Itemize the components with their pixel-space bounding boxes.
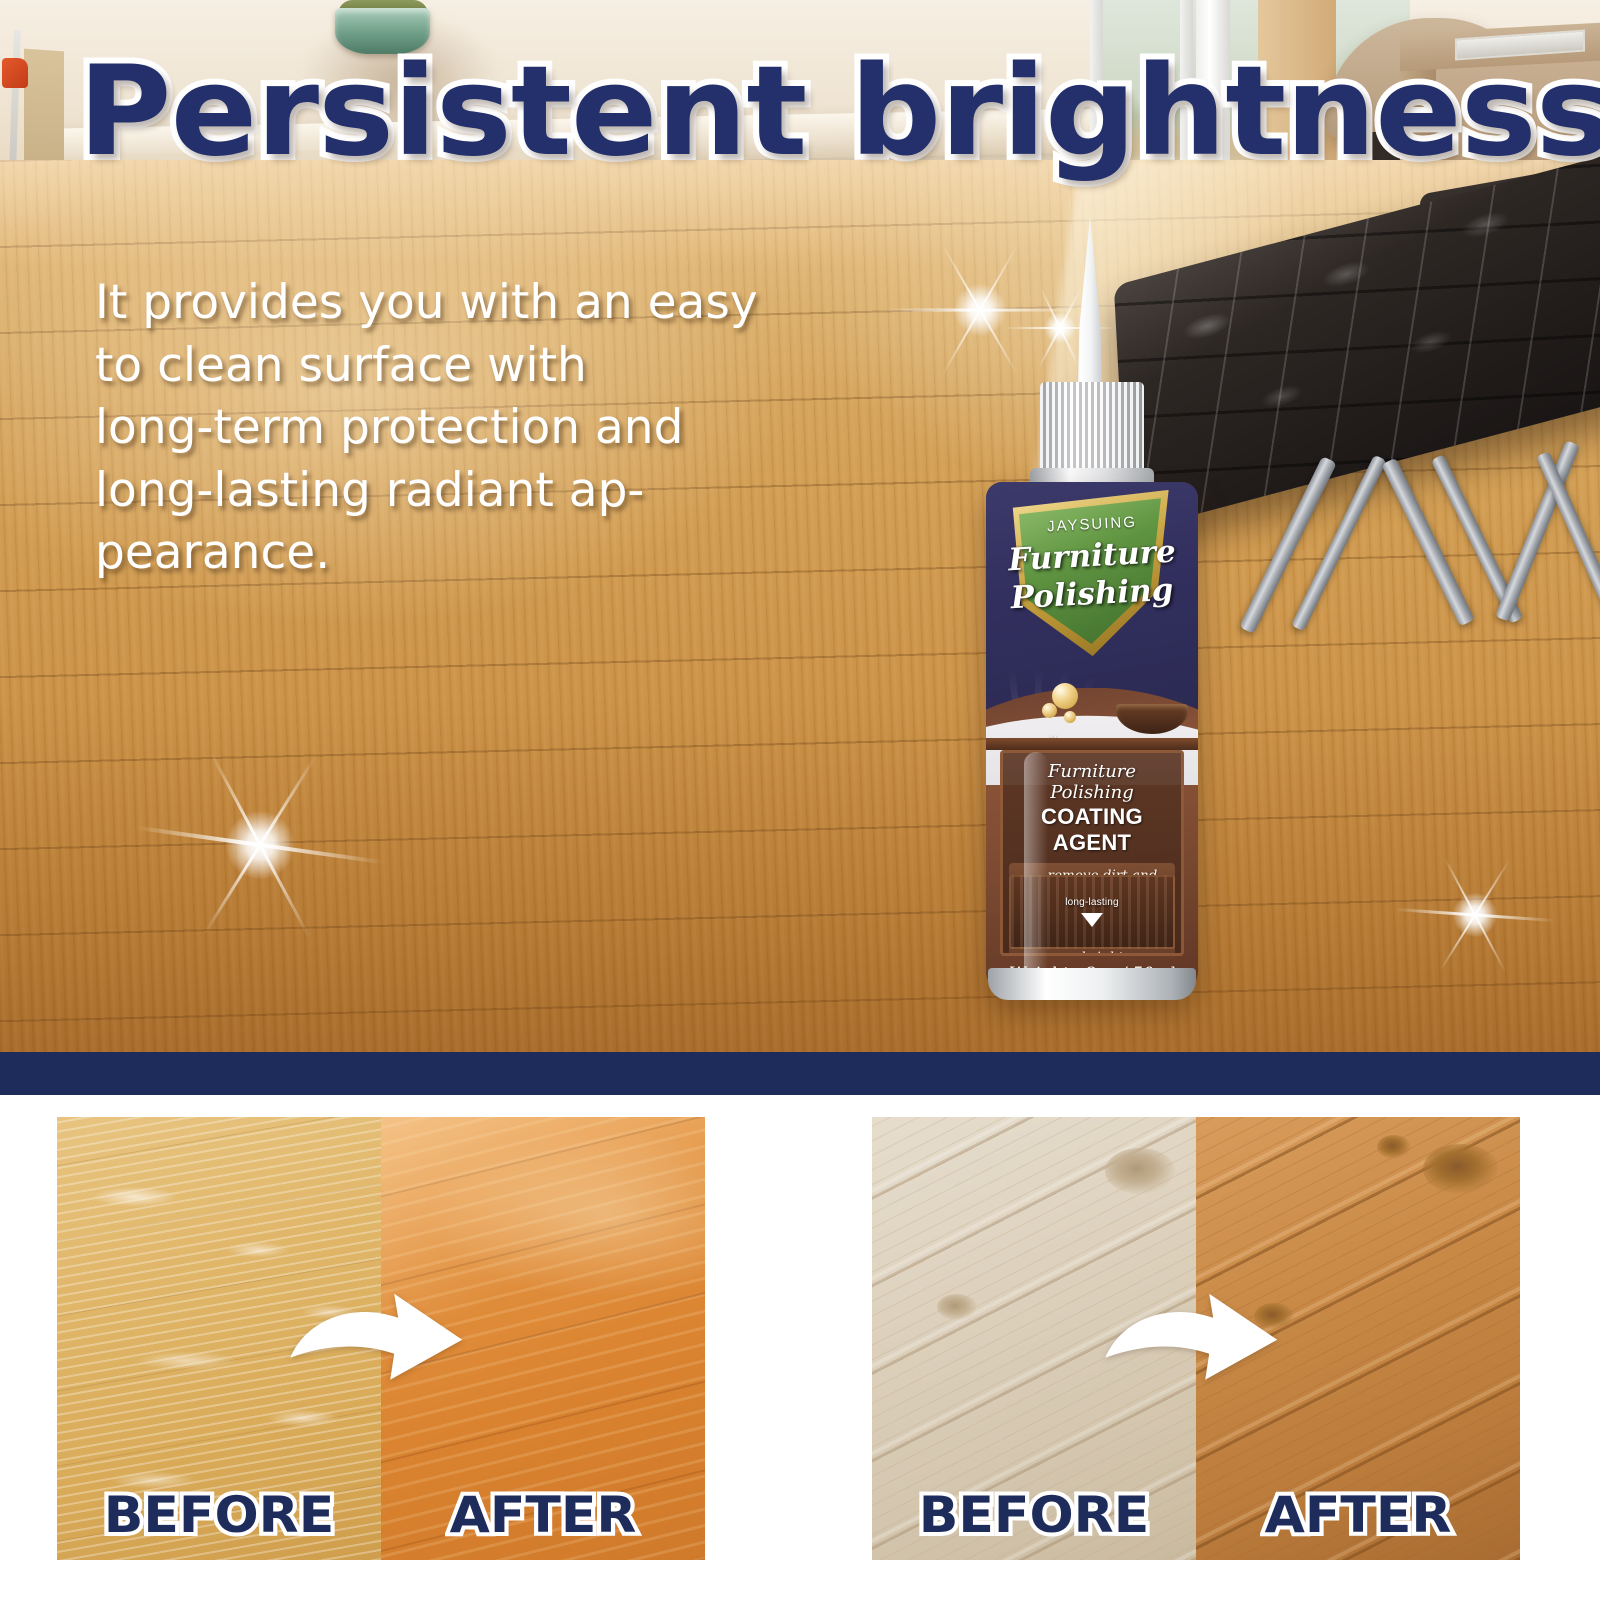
bottle-label: JAYSUING Furniture Polishing care oil Fu… — [986, 482, 1198, 996]
comparison-card-planks: BEFORE AFTER — [872, 1117, 1520, 1560]
page-title: Persistent brightness — [78, 48, 1541, 177]
down-arrow-icon — [1081, 913, 1103, 927]
product-info-box: Furniture Polishing COATING AGENT ✔ remo… — [1000, 750, 1184, 956]
easel-accent — [2, 58, 28, 88]
wood-knot — [1423, 1144, 1499, 1194]
wood-knot — [1105, 1148, 1175, 1194]
transform-arrow-icon — [1097, 1283, 1287, 1403]
bottle-cap-collar — [1040, 382, 1144, 478]
bench-leg — [1495, 440, 1580, 622]
info-title-italic: Furniture Polishing — [1009, 761, 1175, 803]
bench-leg — [1536, 451, 1600, 621]
after-label: AFTER — [381, 1486, 705, 1544]
bench-leg — [1381, 458, 1474, 627]
label-shelf-line — [986, 738, 1198, 750]
cabinet-illustration: long-lasting — [1009, 875, 1175, 949]
info-title-bold: COATING AGENT — [1009, 804, 1175, 856]
before-label: BEFORE — [872, 1486, 1196, 1544]
oil-droplet — [1064, 711, 1076, 723]
wood-knot — [937, 1294, 977, 1320]
hero-section: JAYSUING Furniture Polishing care oil Fu… — [0, 0, 1600, 1052]
oil-droplet — [1052, 683, 1078, 709]
wood-knot — [1377, 1135, 1411, 1159]
bottle-base — [988, 968, 1196, 1000]
long-lasting-tag: long-lasting — [1065, 897, 1119, 908]
before-label: BEFORE — [57, 1486, 381, 1544]
product-marketing-page: JAYSUING Furniture Polishing care oil Fu… — [0, 0, 1600, 1600]
oil-droplets-icon — [1038, 677, 1098, 735]
hero-description: It provides you with an easy to clean su… — [95, 272, 915, 585]
after-label: AFTER — [1196, 1486, 1520, 1544]
comparison-card-floor: BEFORE AFTER — [57, 1117, 705, 1560]
section-divider — [0, 1052, 1600, 1095]
brand-shield: JAYSUING Furniture Polishing — [1002, 494, 1182, 656]
oil-droplet — [1042, 703, 1057, 718]
transform-arrow-icon — [282, 1283, 472, 1403]
bottle-nozzle — [1068, 216, 1112, 394]
product-bottle: JAYSUING Furniture Polishing care oil Fu… — [960, 216, 1220, 1016]
